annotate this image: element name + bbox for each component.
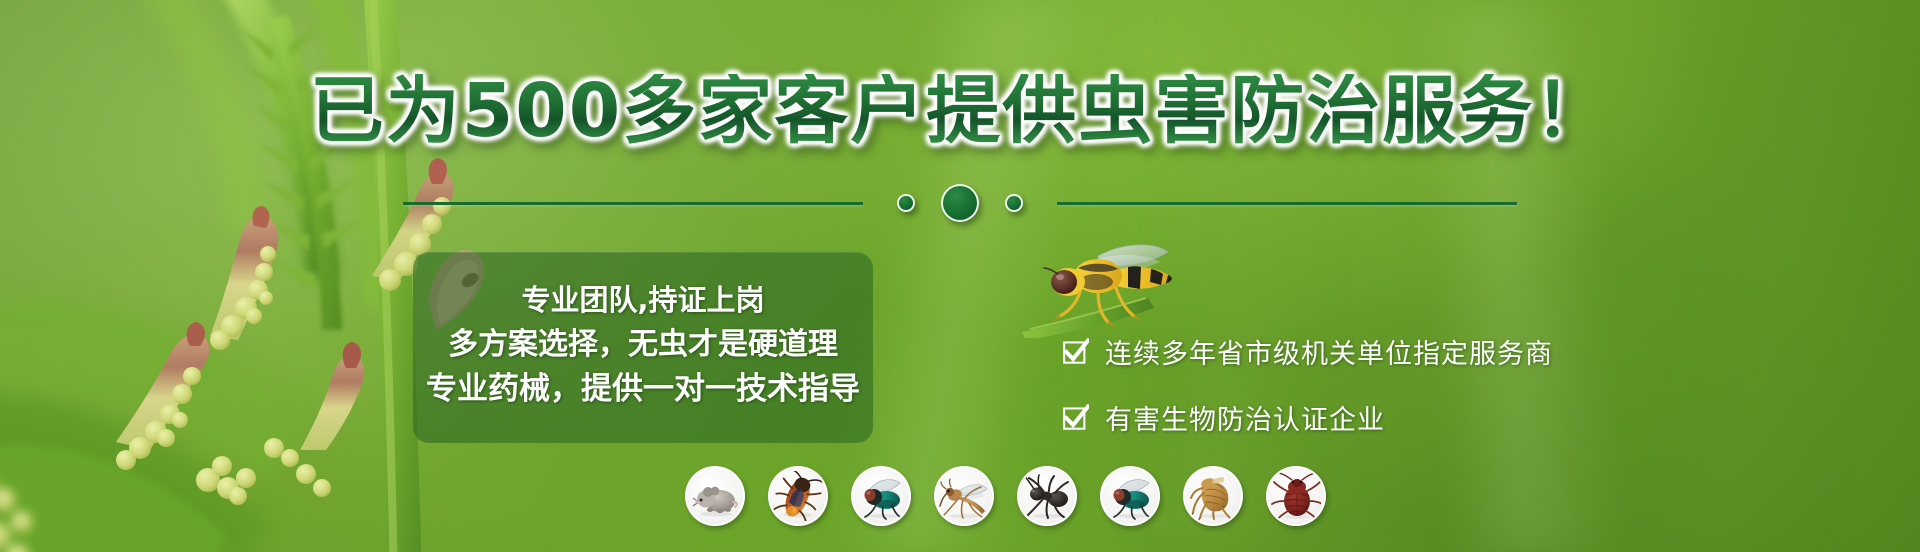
bullet-label: 有害生物防治认证企业 <box>1105 398 1385 437</box>
hoverfly-on-leaf-icon <box>1020 228 1190 338</box>
bedbug-icon <box>1271 471 1321 521</box>
headline-text: 已为500多家客户提供虫害防治服务！ <box>310 74 1610 148</box>
pest-circle-cockroach[interactable] <box>768 466 828 526</box>
certification-bullets: 连续多年省市级机关单位指定服务商 有害生物防治认证企业 <box>1062 332 1553 437</box>
bullet-label: 连续多年省市级机关单位指定服务商 <box>1105 332 1553 371</box>
banner-headline: 已为500多家客户提供虫害防治服务！ <box>0 74 1920 148</box>
pest-circle-flea[interactable] <box>1183 466 1243 526</box>
pest-circle-blowfly[interactable] <box>851 466 911 526</box>
claim-line-2: 多方案选择，无虫才是硬道理 <box>448 329 838 361</box>
pest-control-hero-banner: 已为500多家客户提供虫害防治服务！ 专业团队,持证上岗 多方案选择，无虫才是硬… <box>0 0 1920 552</box>
pest-circle-blowfly-2[interactable] <box>1100 466 1160 526</box>
mosquito-icon <box>939 471 989 521</box>
divider-dot-large-center <box>941 184 979 222</box>
pest-types-row <box>685 466 1326 526</box>
mouse-icon <box>690 471 740 521</box>
divider-rule-right <box>1057 202 1517 205</box>
pest-circle-mosquito[interactable] <box>934 466 994 526</box>
pest-circle-bedbug[interactable] <box>1266 466 1326 526</box>
pest-circle-ant[interactable] <box>1017 466 1077 526</box>
claims-panel: 专业团队,持证上岗 多方案选择，无虫才是硬道理 专业药械，提供一对一技术指导 <box>413 252 873 443</box>
checkbox-check-icon <box>1062 404 1089 431</box>
claim-line-3: 专业药械，提供一对一技术指导 <box>426 373 860 406</box>
headline-divider <box>0 184 1920 222</box>
pest-circle-mouse[interactable] <box>685 466 745 526</box>
claim-line-1: 专业团队,持证上岗 <box>521 285 764 315</box>
blowfly-icon <box>856 471 906 521</box>
divider-dot-small-left <box>897 194 915 212</box>
checkbox-check-icon <box>1062 338 1089 365</box>
divider-rule-left <box>403 202 863 205</box>
list-item: 连续多年省市级机关单位指定服务商 <box>1062 332 1553 371</box>
cockroach-icon <box>773 471 823 521</box>
ant-icon <box>1022 471 1072 521</box>
divider-dot-small-right <box>1005 194 1023 212</box>
divider-dots <box>863 184 1057 222</box>
flea-icon <box>1188 471 1238 521</box>
list-item: 有害生物防治认证企业 <box>1062 398 1553 437</box>
blowfly-icon <box>1105 471 1155 521</box>
